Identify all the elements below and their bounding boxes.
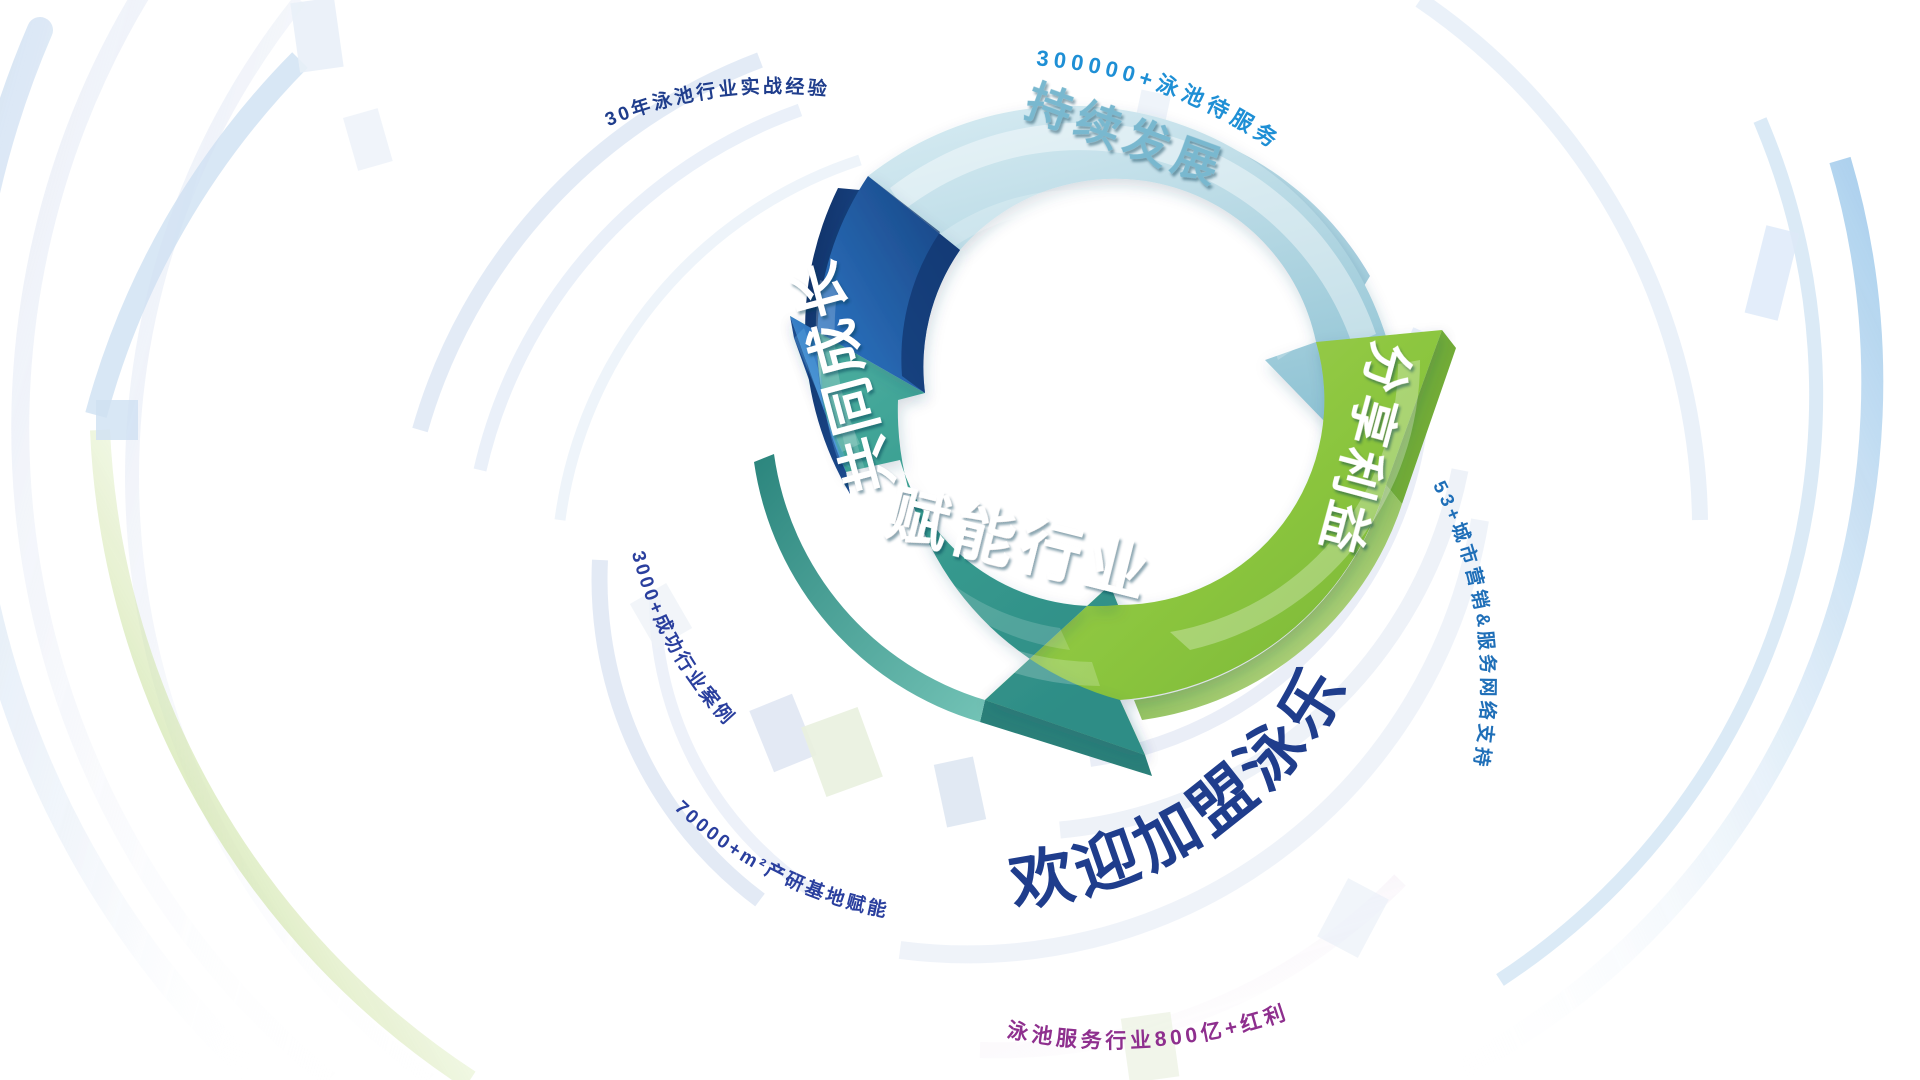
cycle-wheel: 共同成长 持续发展 分享利益 赋能行业 <box>754 75 1456 776</box>
cycle-diagram: 共同成长 持续发展 分享利益 赋能行业 30年泳池行业实战经验 <box>0 0 1920 1080</box>
poster-canvas: 共同成长 持续发展 分享利益 赋能行业 30年泳池行业实战经验 <box>0 0 1920 1080</box>
stat-cases: 3000+成功行业案例 <box>627 549 740 730</box>
stat-cases-text: 3000+成功行业案例 <box>627 549 740 730</box>
